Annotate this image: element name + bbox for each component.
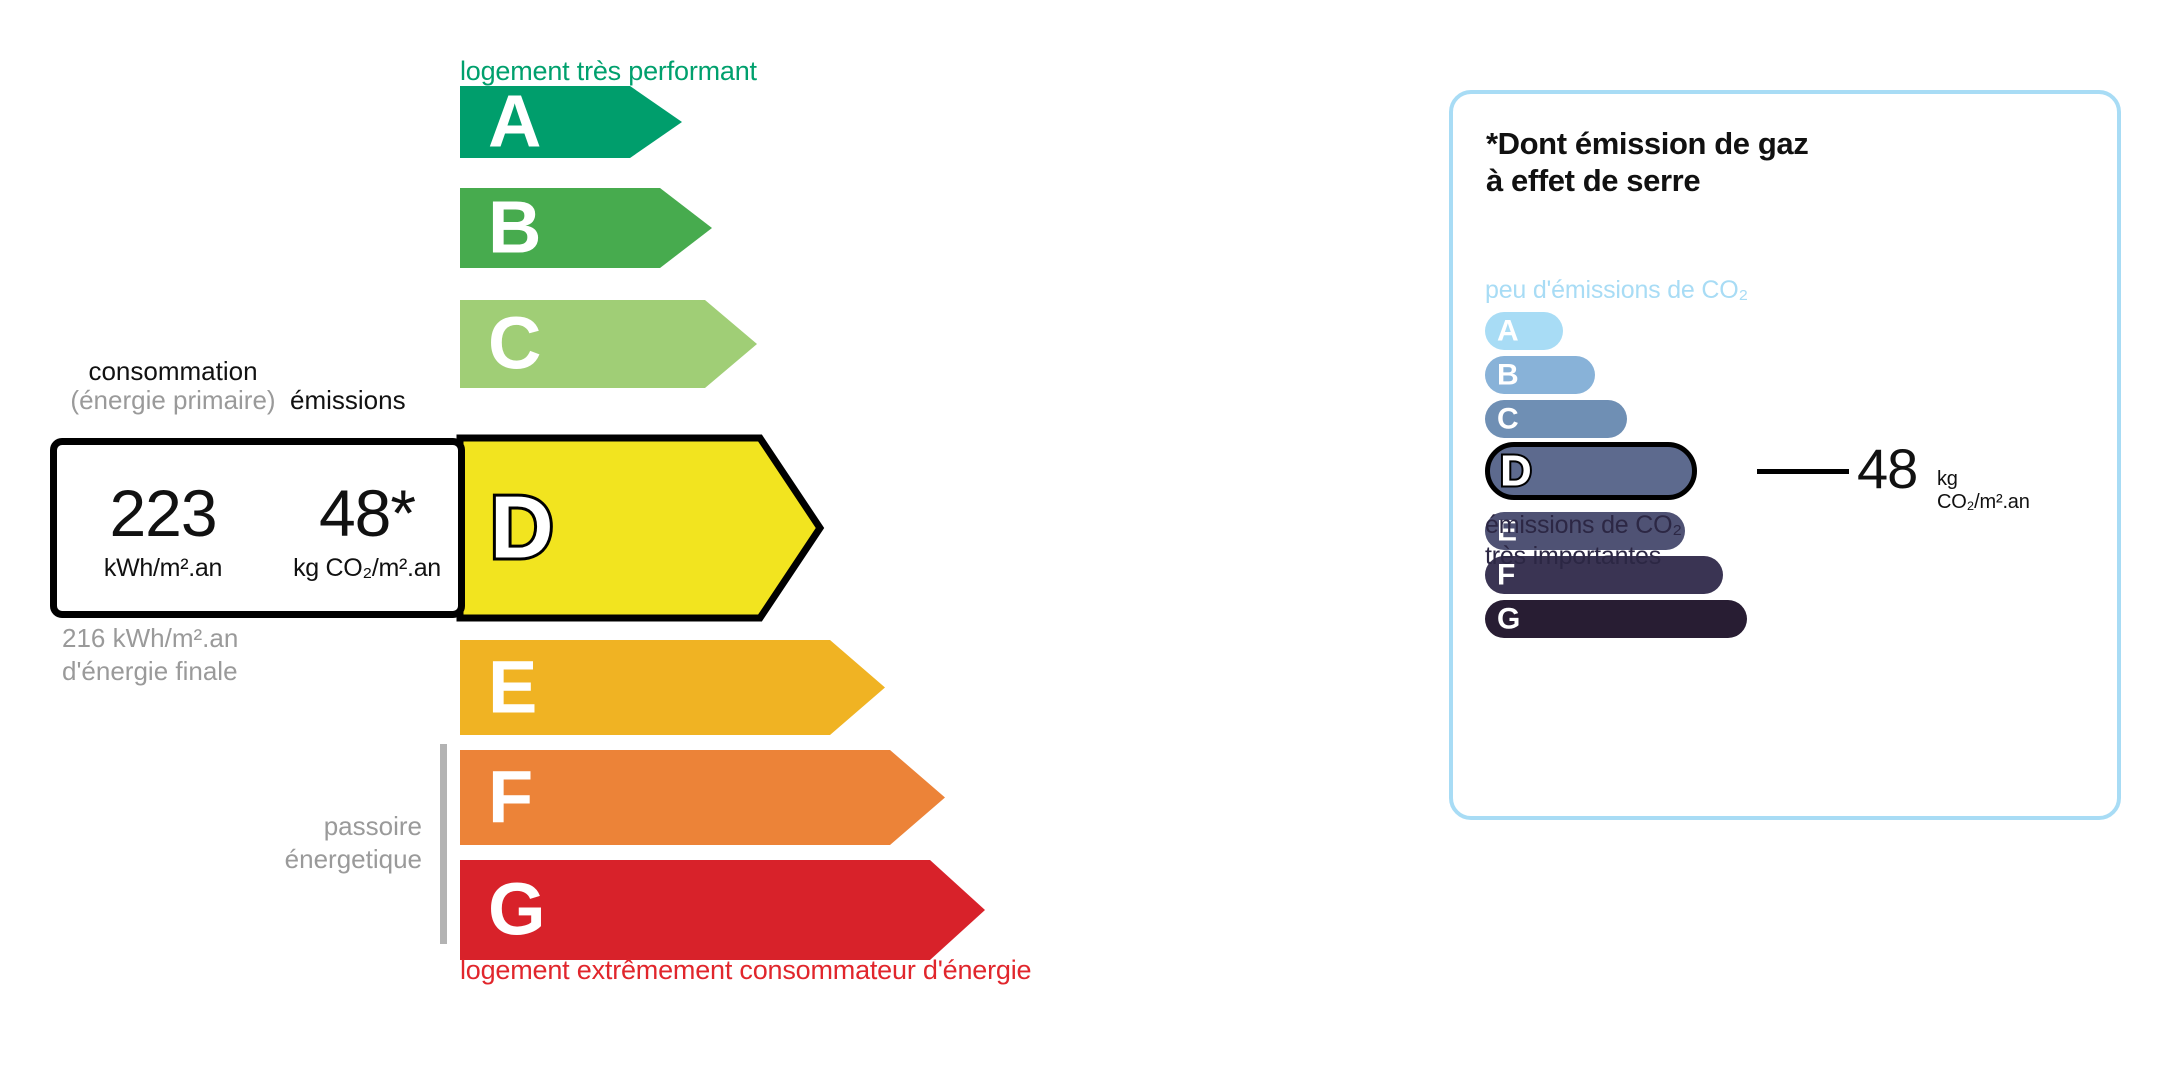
label-emissions: émissions (290, 385, 406, 416)
text-line: énergetique (200, 843, 422, 876)
energy-arrow-c[interactable]: C (460, 300, 757, 388)
scale-bottom-caption: logement extrêmement consommateur d'éner… (460, 955, 1031, 986)
arrow-letter-e: E (488, 656, 537, 719)
arrow-shape: G (460, 860, 985, 960)
co2-letter-c: C (1497, 406, 1519, 432)
passoire-label: passoireénergetique (200, 810, 422, 875)
arrow-shape: B (460, 188, 712, 268)
co2-panel: *Dont émission de gazà effet de serre pe… (1449, 90, 2121, 820)
emission-cell: 48* kg CO₂/m².an (269, 445, 465, 611)
passoire-bracket (440, 744, 447, 944)
co2-letter-g: G (1497, 606, 1520, 632)
co2-bar-d[interactable]: D48kg CO₂/m².an (1485, 442, 1697, 500)
co2-panel-title: *Dont émission de gazà effet de serre (1486, 126, 1808, 199)
final-energy-label: 216 kWh/m².and'énergie finale (62, 622, 238, 687)
consumption-unit: kWh/m².an (104, 554, 222, 583)
arrow-letter-c: C (488, 313, 541, 376)
co2-letter-a: A (1497, 318, 1519, 344)
energy-arrow-d[interactable]: D (460, 438, 820, 618)
arrow-shape: C (460, 300, 757, 388)
co2-bar-g[interactable]: G (1485, 600, 1747, 638)
arrow-letter-a: A (488, 91, 541, 154)
label-energie-primaire: (énergie primaire) (38, 385, 308, 416)
consumption-value-box: 223 kWh/m².an 48* kg CO₂/m².an (50, 438, 465, 618)
energy-arrow-a[interactable]: A (460, 86, 682, 158)
arrow-letter-f: F (488, 766, 533, 829)
co2-letter-b: B (1497, 362, 1519, 388)
arrow-shape: A (460, 86, 682, 158)
arrow-shape: D (460, 438, 820, 618)
co2-bar-fill: G (1485, 600, 1747, 638)
co2-bar-a[interactable]: A (1485, 312, 1563, 350)
co2-value-unit: kg CO₂/m².an (1937, 468, 2030, 514)
co2-bar-b[interactable]: B (1485, 356, 1595, 394)
arrow-shape: F (460, 750, 945, 845)
co2-bar-fill: A (1485, 312, 1563, 350)
co2-bottom-caption: émissions de CO₂très importantes (1485, 510, 1682, 571)
energy-arrow-b[interactable]: B (460, 188, 712, 268)
text-line: *Dont émission de gaz (1486, 126, 1808, 163)
co2-top-caption: peu d'émissions de CO₂ (1485, 276, 1748, 305)
dpe-diagram: logement très performant ABCDEFG consomm… (0, 0, 2169, 1079)
energy-arrow-g[interactable]: G (460, 860, 985, 960)
energy-performance-scale: logement très performant ABCDEFG consomm… (0, 0, 1400, 1079)
energy-arrow-f[interactable]: F (460, 750, 945, 845)
co2-leader-line (1757, 469, 1849, 474)
co2-bar-fill: C (1485, 400, 1627, 438)
co2-bar-c[interactable]: C (1485, 400, 1627, 438)
text-line: émissions de CO₂ (1485, 510, 1682, 541)
co2-bar-fill: D (1485, 442, 1697, 500)
co2-value: 48 (1857, 436, 1917, 501)
arrow-letter-b: B (488, 197, 541, 260)
consumption-cell: 223 kWh/m².an (57, 445, 269, 611)
consumption-value: 223 (109, 480, 216, 546)
arrow-letter-d: D (490, 491, 554, 566)
label-consommation: consommation (58, 356, 288, 387)
text-line: d'énergie finale (62, 655, 238, 688)
co2-letter-d: D (1500, 452, 1532, 489)
arrow-shape: E (460, 640, 885, 735)
text-line: très importantes (1485, 541, 1682, 572)
text-line: passoire (200, 810, 422, 843)
energy-arrow-e[interactable]: E (460, 640, 885, 735)
co2-bar-fill: B (1485, 356, 1595, 394)
arrow-letter-g: G (488, 879, 546, 942)
emission-value: 48* (319, 480, 415, 546)
emission-unit: kg CO₂/m².an (293, 554, 441, 583)
text-line: à effet de serre (1486, 163, 1808, 200)
text-line: 216 kWh/m².an (62, 622, 238, 655)
